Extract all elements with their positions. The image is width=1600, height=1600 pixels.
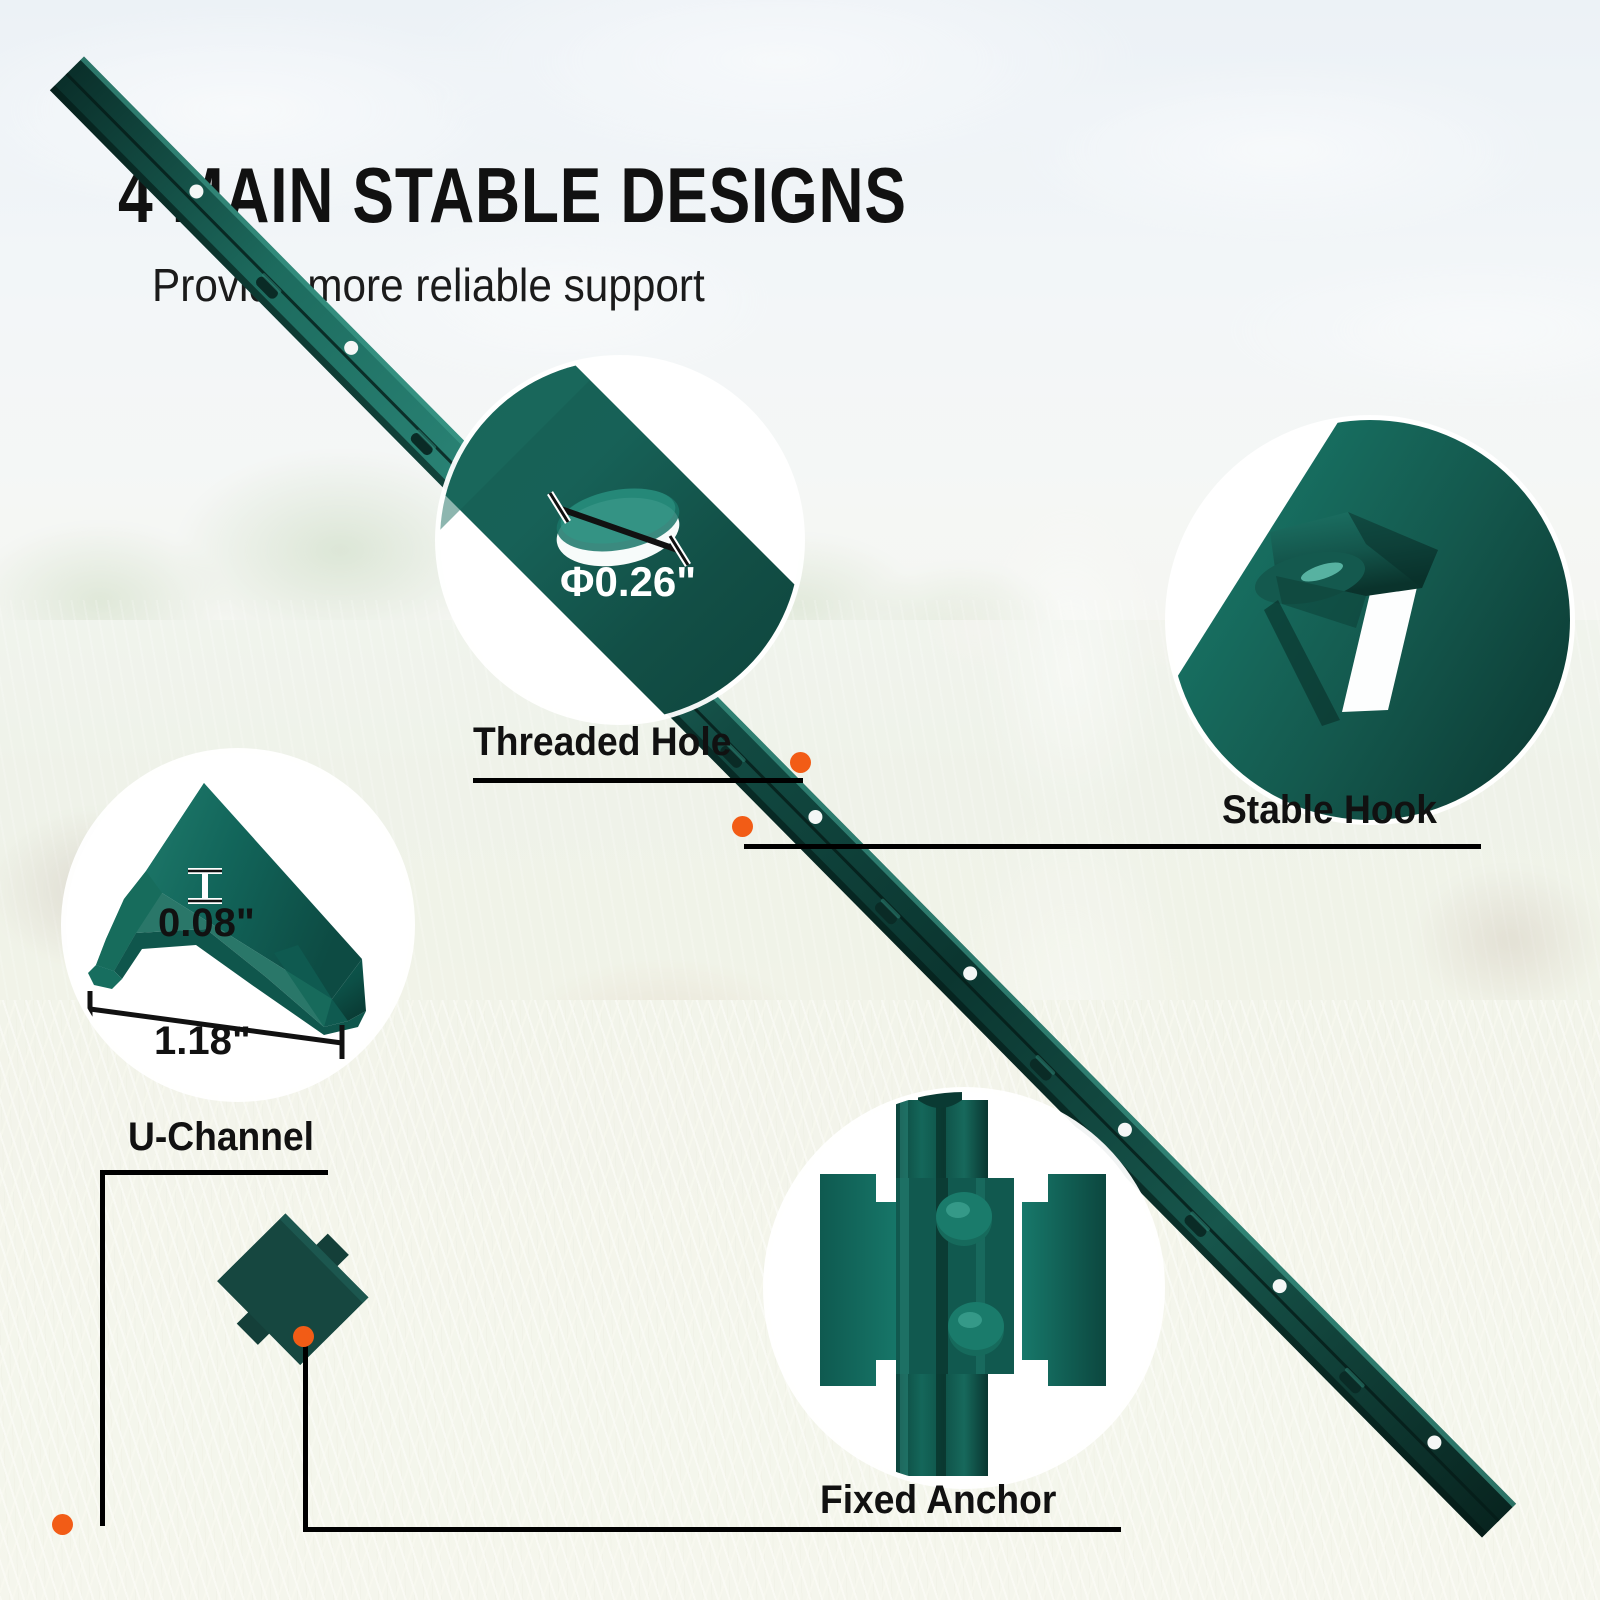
callout-circle-threaded-hole: Φ0.26" xyxy=(440,360,800,720)
marker-dot-stable-hook xyxy=(732,816,753,837)
leader-line-threaded-hole xyxy=(473,778,803,783)
callout-label-stable-hook: Stable Hook xyxy=(1222,788,1437,833)
callout-circle-u-channel: 0.08" 1.18" xyxy=(66,753,410,1097)
page-subtitle: Provide more reliable support xyxy=(152,258,705,312)
leader-line-u-channel-vertical xyxy=(100,1170,105,1526)
dimension-label-thickness: 0.08" xyxy=(158,901,255,946)
marker-dot-u-channel xyxy=(52,1514,73,1535)
callout-label-u-channel: U-Channel xyxy=(128,1115,314,1160)
callout-label-fixed-anchor: Fixed Anchor xyxy=(820,1478,1056,1523)
fixed-anchor-detail xyxy=(768,1092,1160,1484)
dimension-label-width: 1.18" xyxy=(154,1019,251,1064)
threaded-hole-detail xyxy=(440,360,800,720)
callout-circle-stable-hook xyxy=(1170,420,1570,820)
leader-line-stable-hook xyxy=(744,844,1481,849)
leader-line-fixed-anchor-vertical xyxy=(303,1336,308,1532)
page-title: 4 MAIN STABLE DESIGNS xyxy=(118,150,907,241)
leader-line-u-channel-horizontal xyxy=(100,1170,328,1175)
stable-hook-detail xyxy=(1170,420,1570,820)
infographic-canvas: 4 MAIN STABLE DESIGNS Provide more relia… xyxy=(0,0,1600,1600)
dimension-label-hole-diameter: Φ0.26" xyxy=(560,558,696,606)
callout-circle-fixed-anchor xyxy=(768,1092,1160,1484)
marker-dot-threaded-hole xyxy=(790,752,811,773)
callout-label-threaded-hole: Threaded Hole xyxy=(473,720,731,765)
marker-dot-fixed-anchor xyxy=(293,1326,314,1347)
leader-line-fixed-anchor-horizontal xyxy=(303,1527,1121,1532)
